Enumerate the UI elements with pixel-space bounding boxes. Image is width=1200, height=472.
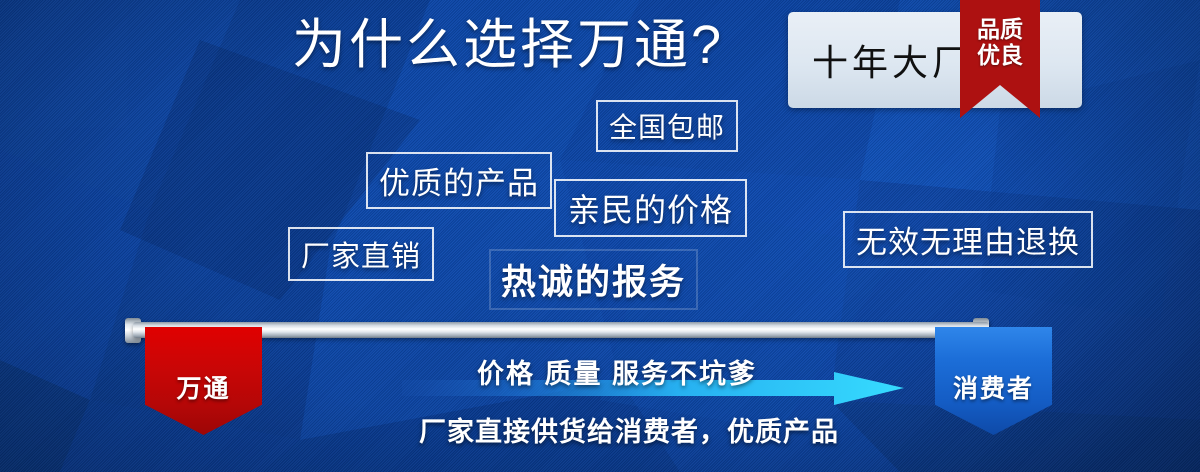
promo-banner: 为什么选择万通? 十年大厂 品质 优良 全国包邮 优质的产品 亲民的价格 无效无… xyxy=(0,0,1200,472)
feature-tag-free-returns: 无效无理由退换 xyxy=(843,211,1093,268)
feature-tag-nationwide-shipping: 全国包邮 xyxy=(596,100,738,152)
pennant-target-label: 消费者 xyxy=(935,369,1052,405)
ribbon-line-2: 优良 xyxy=(960,42,1040,68)
page-title: 为什么选择万通? xyxy=(292,12,724,80)
pennant-source-label: 万通 xyxy=(145,369,262,405)
feature-tag-quality-products: 优质的产品 xyxy=(366,152,552,209)
flow-sub-line: 厂家直接供货给消费者，优质产品 xyxy=(419,410,839,449)
feature-tag-sincere-service: 热诚的报务 xyxy=(489,249,698,310)
feature-tag-factory-direct: 厂家直销 xyxy=(288,227,434,281)
ribbon-label: 品质 优良 xyxy=(960,16,1040,69)
quality-badge: 十年大厂 品质 优良 xyxy=(788,12,1082,108)
ribbon-line-1: 品质 xyxy=(960,16,1040,42)
ribbon-icon: 品质 优良 xyxy=(960,0,1040,118)
badge-title: 十年大厂 xyxy=(812,34,972,86)
flow-mid-line: 价格 质量 服务不坑爹 xyxy=(477,352,757,391)
feature-tag-friendly-price: 亲民的价格 xyxy=(554,179,747,237)
